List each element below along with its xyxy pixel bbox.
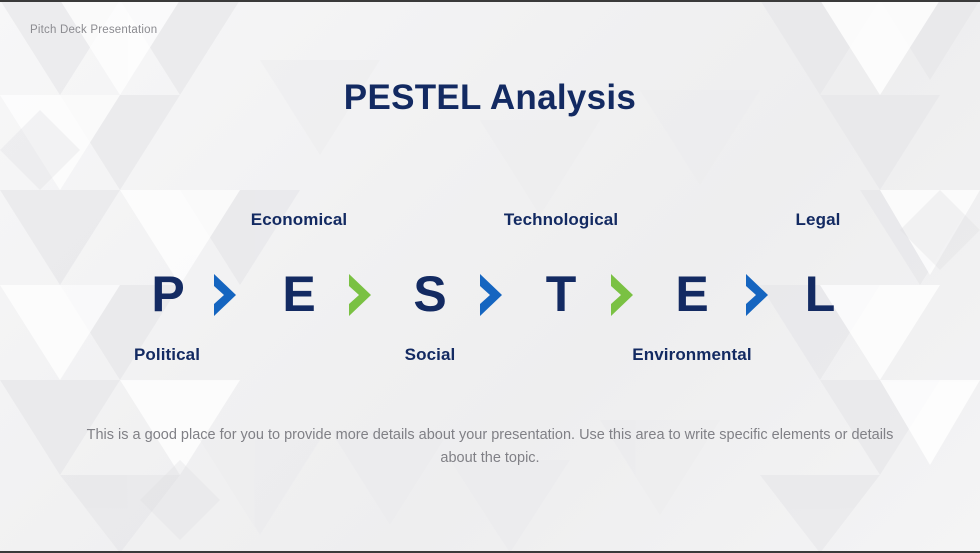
pestel-labels-bottom-row: PoliticalSocialEnvironmental — [0, 345, 980, 375]
pestel-letter-technological: T — [546, 262, 577, 326]
pestel-letter-economical: E — [282, 262, 315, 326]
slide-canvas: Pitch Deck Presentation PESTEL Analysis … — [0, 0, 980, 553]
pestel-label-economical: Economical — [251, 210, 347, 230]
pestel-label-environmental: Environmental — [632, 345, 751, 365]
pestel-letter-environmental: E — [675, 262, 708, 326]
chevron-right-icon-1 — [210, 274, 240, 316]
chevron-right-icon-2 — [345, 274, 375, 316]
chevron-right-icon-3 — [476, 274, 506, 316]
page-title: PESTEL Analysis — [0, 78, 980, 118]
chevron-right-icon-5 — [742, 274, 772, 316]
slide-body-text: This is a good place for you to provide … — [73, 424, 908, 470]
pestel-label-legal: Legal — [796, 210, 841, 230]
pestel-labels-top-row: EconomicalTechnologicalLegal — [0, 210, 980, 240]
pestel-letter-social: S — [413, 262, 446, 326]
chevron-right-icon-4 — [607, 274, 637, 316]
pestel-letter-legal: L — [805, 262, 836, 326]
pestel-label-political: Political — [134, 345, 200, 365]
deck-eyebrow-text: Pitch Deck Presentation — [30, 24, 157, 36]
pestel-letter-political: P — [151, 262, 184, 326]
pestel-label-technological: Technological — [504, 210, 618, 230]
pestel-diagram: EconomicalTechnologicalLegal PESTEL Poli… — [0, 200, 980, 385]
pestel-label-social: Social — [405, 345, 456, 365]
pestel-letters-row: PESTEL — [0, 262, 980, 332]
